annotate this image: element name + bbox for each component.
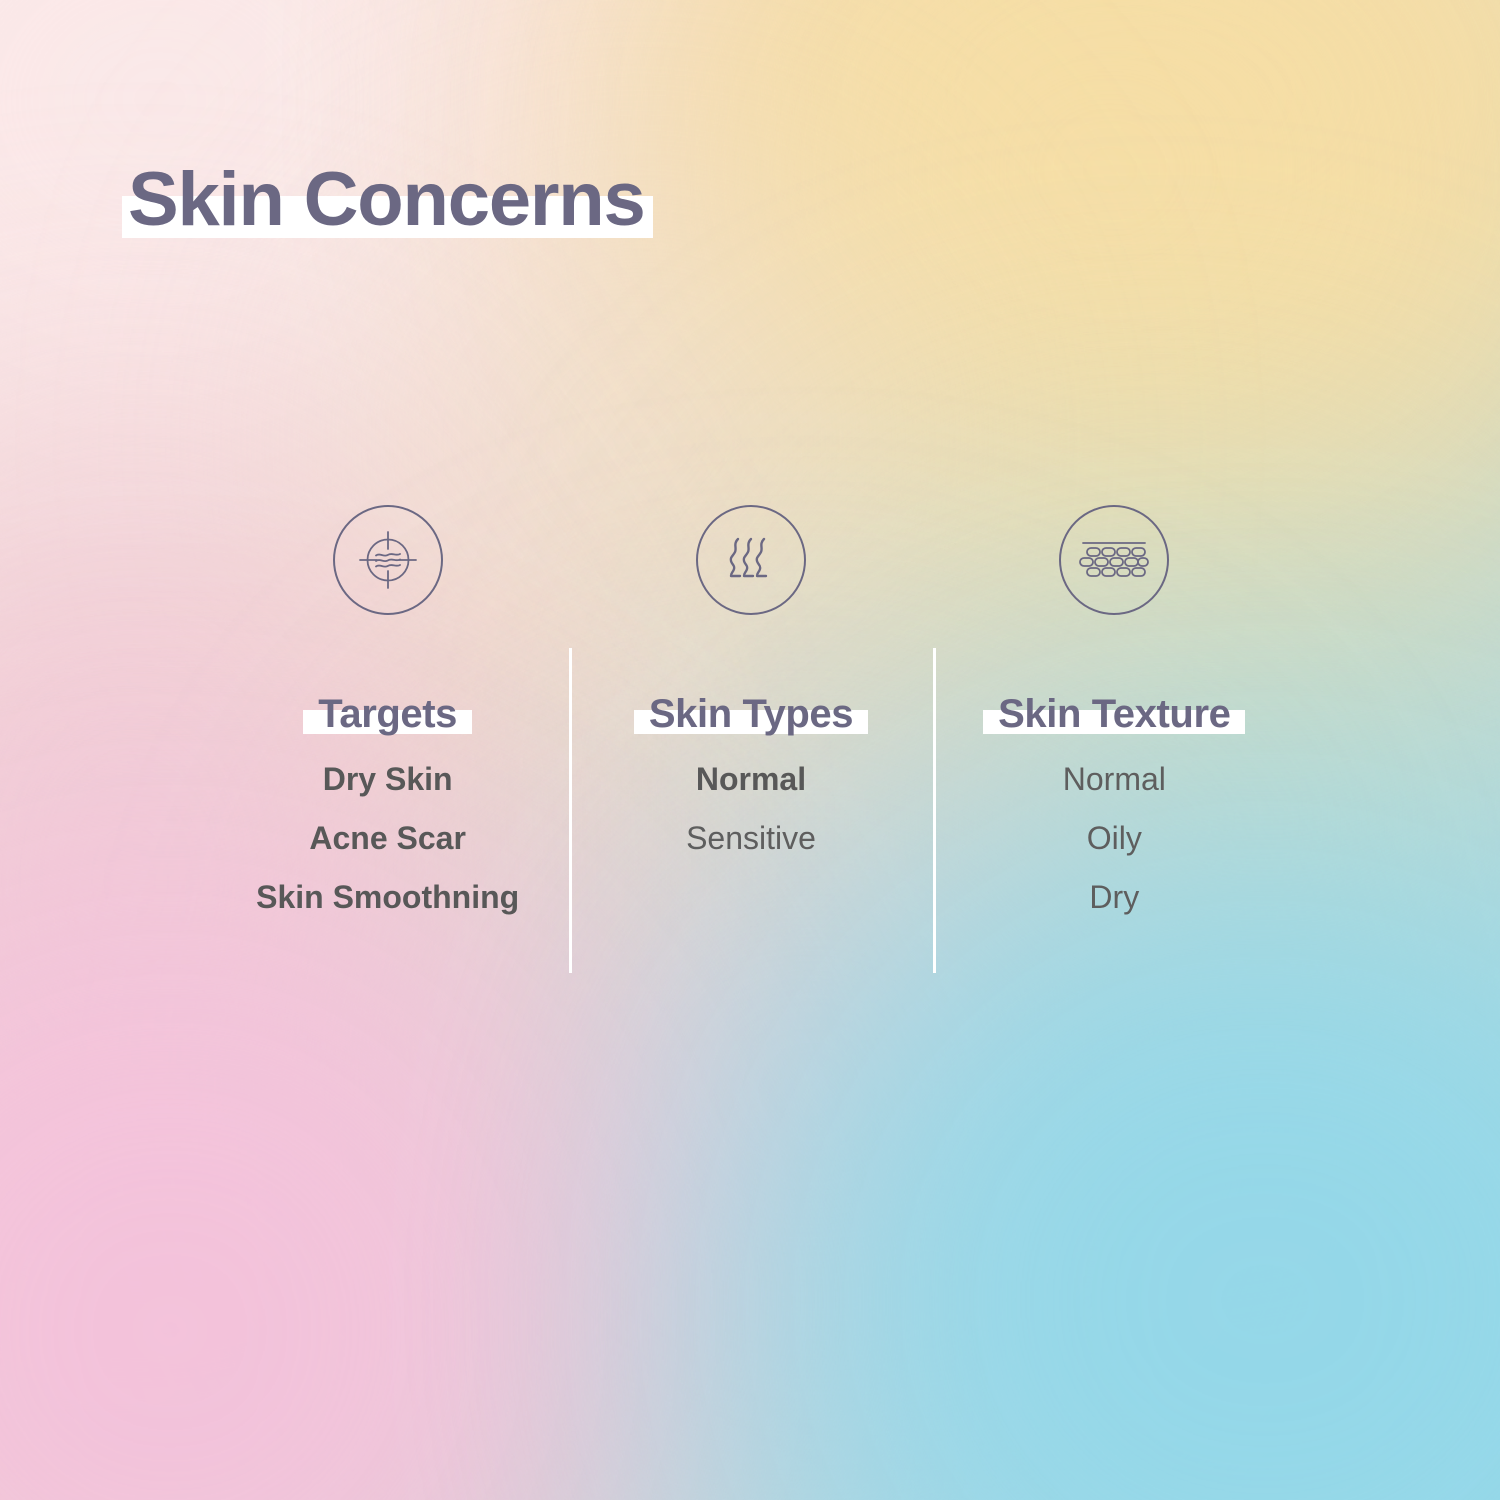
- column-items-skin-texture: Normal Oily Dry: [1063, 763, 1166, 940]
- list-item: Dry Skin: [323, 763, 453, 795]
- column-heading-text: Skin Types: [649, 691, 853, 737]
- column-targets: Targets Dry Skin Acne Scar Skin Smoothni…: [206, 505, 569, 940]
- column-heading-skin-texture: Skin Texture: [998, 691, 1230, 737]
- column-items-skin-types: Normal Sensitive: [686, 763, 816, 881]
- skin-cells-icon: [1059, 505, 1169, 615]
- column-heading-text: Skin Texture: [998, 691, 1230, 737]
- column-skin-texture: Skin Texture Normal Oily Dry: [933, 505, 1296, 940]
- list-item: Sensitive: [686, 822, 816, 854]
- list-item: Acne Scar: [309, 822, 466, 854]
- list-item: Normal: [696, 763, 806, 795]
- column-heading-targets: Targets: [318, 691, 457, 737]
- list-item: Normal: [1063, 763, 1166, 795]
- column-heading-text: Targets: [318, 691, 457, 737]
- page-title: Skin Concerns: [128, 158, 645, 242]
- concerns-columns: Targets Dry Skin Acne Scar Skin Smoothni…: [206, 505, 1296, 940]
- page-title-text: Skin Concerns: [128, 158, 645, 242]
- target-waves-icon: [333, 505, 443, 615]
- list-item: Skin Smoothning: [256, 881, 519, 913]
- column-items-targets: Dry Skin Acne Scar Skin Smoothning: [256, 763, 519, 940]
- steam-waves-icon: [696, 505, 806, 615]
- column-heading-skin-types: Skin Types: [649, 691, 853, 737]
- list-item: Dry: [1089, 881, 1139, 913]
- list-item: Oily: [1087, 822, 1142, 854]
- infographic-canvas: Skin Concerns Targets: [0, 0, 1500, 1500]
- column-skin-types: Skin Types Normal Sensitive: [569, 505, 932, 940]
